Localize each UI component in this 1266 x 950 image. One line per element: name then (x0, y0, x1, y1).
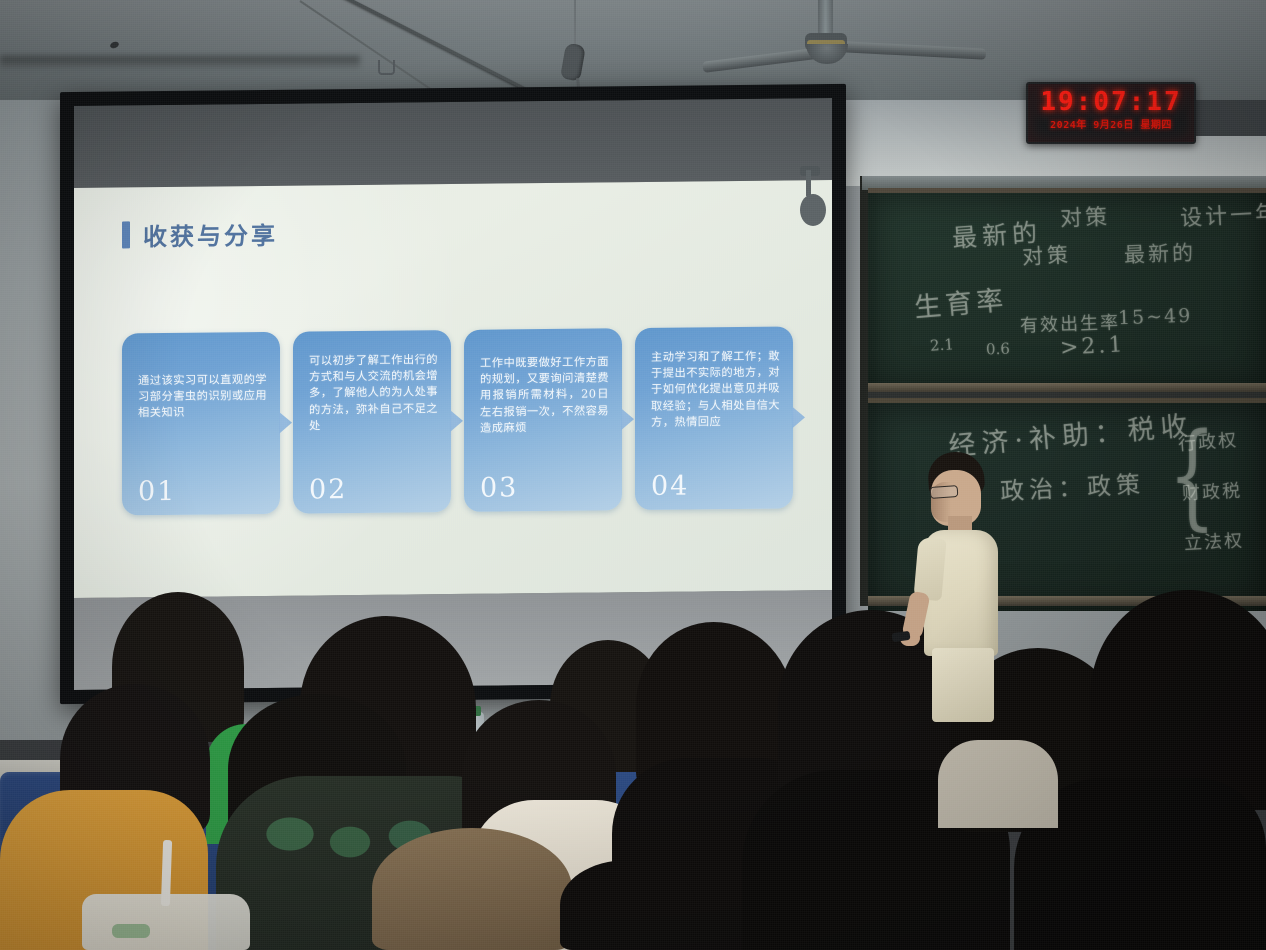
slide-card-text: 通过该实习可以直观的学习部分害虫的识别或应用相关知识 (138, 372, 267, 422)
slide-title-group: 收获与分享 (122, 216, 278, 253)
clock-date: 2024年 9月26日 星期四 (1028, 116, 1194, 131)
audience-head (560, 860, 696, 950)
slide-title: 收获与分享 (143, 216, 278, 252)
chevron-right-icon (792, 406, 805, 428)
bag-green-mark (112, 924, 150, 938)
slide-card-row: 通过该实习可以直观的学习部分害虫的识别或应用相关知识 01 可以初步了解工作出行… (122, 326, 794, 515)
audience-head (1090, 590, 1266, 810)
audience-head (372, 828, 572, 950)
ceiling-stain (0, 56, 360, 70)
chevron-right-icon (621, 408, 634, 430)
led-wall-clock: 19:07:17 2024年 9月26日 星期四 (1026, 82, 1196, 144)
chalkboard-upper-panel (868, 188, 1266, 389)
slide-card: 主动学习和了解工作；敢于提出不实际的地方，对于如何优化提出意见并吸取经验；与人相… (635, 326, 793, 510)
clock-time: 19:07:17 (1028, 87, 1194, 117)
presentation-slide: 收获与分享 通过该实习可以直观的学习部分害虫的识别或应用相关知识 01 可以初步… (74, 180, 832, 598)
hanging-lamp-bulb (800, 194, 826, 226)
hanging-lamp-stem (806, 170, 811, 196)
slide-card: 通过该实习可以直观的学习部分害虫的识别或应用相关知识 01 (122, 332, 280, 516)
slide-card: 工作中既要做好工作方面的规划，又要询问清楚费用报销所需材料，20日左右报销一次，… (464, 328, 622, 512)
ceiling-hook (378, 60, 395, 75)
chalkboard-ledge-upper (868, 383, 1266, 392)
slide-card-number: 02 (309, 474, 347, 505)
ceiling-fan-rod (818, 0, 833, 34)
slide-card-text: 工作中既要做好工作方面的规划，又要询问清楚费用报销所需材料，20日左右报销一次，… (480, 354, 609, 436)
slide-card-number: 04 (651, 471, 689, 502)
title-accent-bar (122, 221, 130, 248)
screen-band-top (74, 98, 832, 188)
slide-card: 可以初步了解工作出行的方式和与人交流的机会增多，了解他人的为人处事的方法，弥补自… (293, 330, 451, 514)
microphone-wire (574, 0, 576, 46)
presenter-lower-body (932, 648, 994, 722)
audience-shirt (938, 740, 1058, 828)
slide-card-text: 主动学习和了解工作；敢于提出不实际的地方，对于如何优化提出意见并吸取经验；与人相… (651, 349, 780, 431)
slide-card-number: 01 (138, 476, 176, 507)
classroom-presentation-scene: 19:07:17 2024年 9月26日 星期四 最新的 对策 设计一年后预估 … (0, 0, 1266, 950)
slide-card-text: 可以初步了解工作出行的方式和与人交流的机会增多，了解他人的为人处事的方法，弥补自… (309, 352, 438, 434)
chevron-right-icon (279, 412, 292, 434)
student-presenter (900, 452, 1030, 722)
slide-card-number: 03 (480, 472, 518, 503)
glasses-icon (930, 485, 959, 499)
chevron-right-icon (450, 410, 463, 432)
